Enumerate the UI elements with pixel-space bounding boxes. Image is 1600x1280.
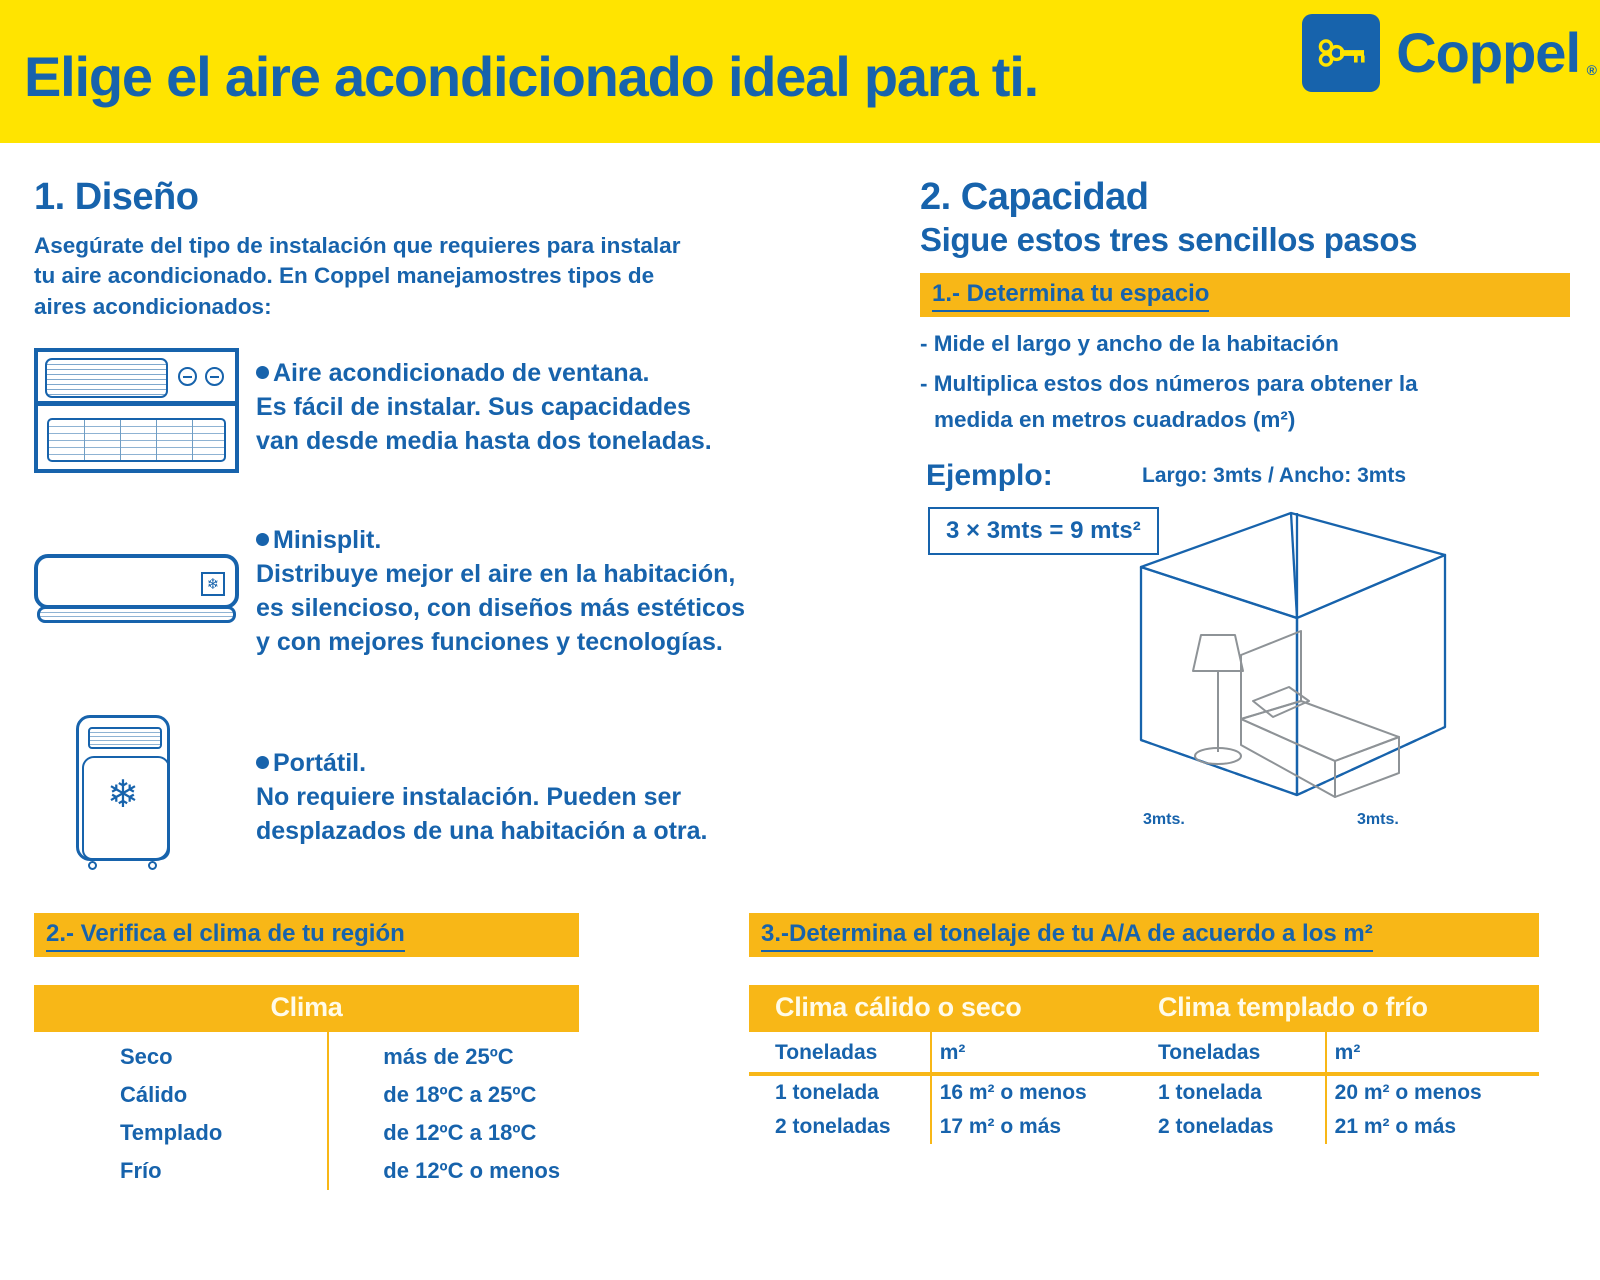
col-header-toneladas: Toneladas xyxy=(1144,1032,1326,1074)
clima-range: de 12ºC a 18ºC xyxy=(328,1114,579,1152)
portable-cabinet: ❄ xyxy=(76,715,170,861)
section1-lead: Asegúrate del tipo de instalación que re… xyxy=(34,231,794,322)
brand-text: Coppel xyxy=(1396,21,1580,84)
table-row: Templado de 12ºC a 18ºC xyxy=(34,1114,579,1152)
section1-title: 1. Diseño xyxy=(34,176,794,219)
section-clima: 2.- Verifica el clima de tu región Clima… xyxy=(34,913,579,1190)
step1-rule: - Multiplica estos dos números para obte… xyxy=(920,371,1570,397)
clima-range: más de 25ºC xyxy=(328,1032,579,1076)
item-line: y con mejores funciones y tecnologías. xyxy=(256,625,816,659)
clima-type: Frío xyxy=(34,1152,328,1190)
cell-m2: 21 m² o más xyxy=(1326,1110,1539,1144)
item-line: Es fácil de instalar. Sus capacidades xyxy=(256,390,796,424)
item-heading: Minisplit. xyxy=(273,526,381,554)
coppel-logo: Coppel ® xyxy=(1302,14,1580,92)
group-header-templado: Clima templado o frío xyxy=(1144,985,1539,1032)
clima-header: Clima xyxy=(34,985,579,1032)
lead-line: tu aire acondicionado. En Coppel manejam… xyxy=(34,261,794,291)
cell-toneladas: 1 tonelada xyxy=(1144,1074,1326,1110)
col-header-m2: m² xyxy=(1326,1032,1539,1074)
minisplit-body: ❄ xyxy=(34,554,239,609)
example-row: Ejemplo: Largo: 3mts / Ancho: 3mts 3 × 3… xyxy=(920,459,1570,511)
section2-title: 2. Capacidad xyxy=(920,176,1570,219)
section-diseno: 1. Diseño Asegúrate del tipo de instalac… xyxy=(34,176,794,885)
step1-band-label: 1.- Determina tu espacio xyxy=(932,280,1209,312)
cell-m2: 17 m² o más xyxy=(931,1110,1144,1144)
table-header-row: Clima xyxy=(34,985,579,1032)
table-row: Cálido de 18ºC a 25ºC xyxy=(34,1076,579,1114)
table-row: Seco más de 25ºC xyxy=(34,1032,579,1076)
table-row: 2 toneladas 17 m² o más 2 toneladas 21 m… xyxy=(749,1110,1539,1144)
cell-m2: 16 m² o menos xyxy=(931,1074,1144,1110)
bullet-icon xyxy=(256,366,269,379)
col-header-m2: m² xyxy=(931,1032,1144,1074)
item-line: Distribuye mejor el aire en la habitació… xyxy=(256,557,816,591)
ac-type-minisplit: ❄ Minisplit. Distribuye mejor el aire en… xyxy=(34,523,794,693)
lead-line: Asegúrate del tipo de instalación que re… xyxy=(34,231,794,261)
step1-rule: medida en metros cuadrados (m²) xyxy=(920,407,1570,433)
window-ac-knob xyxy=(205,367,224,386)
bullet-icon xyxy=(256,533,269,546)
example-label: Ejemplo: xyxy=(926,459,1053,493)
item-line: es silencioso, con diseños más estéticos xyxy=(256,591,816,625)
table-row: 1 tonelada 16 m² o menos 1 tonelada 20 m… xyxy=(749,1074,1539,1110)
table-row: Frío de 12ºC o menos xyxy=(34,1152,579,1190)
step3-band-label: 3.-Determina el tonelaje de tu A/A de ac… xyxy=(761,920,1373,952)
clima-table: Clima Seco más de 25ºC Cálido de 18ºC a … xyxy=(34,985,579,1190)
minisplit-ac-text: Minisplit. Distribuye mejor el aire en l… xyxy=(256,523,816,659)
item-line: van desde media hasta dos toneladas. xyxy=(256,424,796,458)
isometric-room-icon xyxy=(1113,505,1473,840)
snowflake-icon: ❄ xyxy=(201,572,225,596)
snowflake-icon: ❄ xyxy=(79,776,167,814)
page-header: Elige el aire acondicionado ideal para t… xyxy=(0,0,1600,143)
portable-ac-icon: ❄ xyxy=(76,715,170,867)
tonelaje-table: Clima cálido o seco Clima templado o frí… xyxy=(749,985,1539,1144)
section2-subtitle: Sigue estos tres sencillos pasos xyxy=(920,221,1570,259)
window-ac-text: Aire acondicionado de ventana. Es fácil … xyxy=(256,356,796,458)
step1-band: 1.- Determina tu espacio xyxy=(920,273,1570,317)
cell-toneladas: 2 toneladas xyxy=(749,1110,931,1144)
item-heading-row: Minisplit. xyxy=(256,523,816,557)
bullet-icon xyxy=(256,756,269,769)
minisplit-ac-icon: ❄ xyxy=(34,554,239,629)
group-header-calido: Clima cálido o seco xyxy=(749,985,1144,1032)
portable-ac-text: Portátil. No requiere instalación. Puede… xyxy=(256,746,796,848)
window-ac-knob xyxy=(178,367,197,386)
portable-wheel xyxy=(148,861,157,870)
col-header-toneladas: Toneladas xyxy=(749,1032,931,1074)
step2-band-label: 2.- Verifica el clima de tu región xyxy=(46,920,405,952)
step2-band: 2.- Verifica el clima de tu región xyxy=(34,913,579,957)
table-header-row: Toneladas m² Toneladas m² xyxy=(749,1032,1539,1074)
example-dimensions: Largo: 3mts / Ancho: 3mts xyxy=(1142,464,1406,488)
clima-type: Seco xyxy=(34,1032,328,1076)
window-ac-top xyxy=(38,352,235,406)
clima-type: Templado xyxy=(34,1114,328,1152)
brand-name: Coppel ® xyxy=(1396,25,1580,81)
portable-vents xyxy=(88,727,162,749)
cell-toneladas: 2 toneladas xyxy=(1144,1110,1326,1144)
item-line: desplazados de una habitación a otra. xyxy=(256,814,796,848)
item-heading-row: Portátil. xyxy=(256,746,796,780)
ac-type-window: Aire acondicionado de ventana. Es fácil … xyxy=(34,348,794,493)
clima-range: de 18ºC a 25ºC xyxy=(328,1076,579,1114)
window-ac-grille xyxy=(47,418,226,462)
key-icon xyxy=(1302,14,1380,92)
room-right-dimension: 3mts. xyxy=(1357,811,1399,829)
item-heading: Portátil. xyxy=(273,749,366,777)
window-ac-icon xyxy=(34,348,239,473)
lead-line: aires acondicionados: xyxy=(34,292,794,322)
clima-range: de 12ºC o menos xyxy=(328,1152,579,1190)
section-capacidad: 2. Capacidad Sigue estos tres sencillos … xyxy=(920,176,1570,511)
step3-band: 3.-Determina el tonelaje de tu A/A de ac… xyxy=(749,913,1539,957)
window-ac-vent xyxy=(45,358,168,398)
ac-type-portable: ❄ Portátil. No requiere instalación. Pue… xyxy=(34,715,794,885)
minisplit-louver xyxy=(37,606,236,623)
clima-type: Cálido xyxy=(34,1076,328,1114)
cell-m2: 20 m² o menos xyxy=(1326,1074,1539,1110)
item-heading-row: Aire acondicionado de ventana. xyxy=(256,356,796,390)
cell-toneladas: 1 tonelada xyxy=(749,1074,931,1110)
table-group-header-row: Clima cálido o seco Clima templado o frí… xyxy=(749,985,1539,1032)
step1-rule: - Mide el largo y ancho de la habitación xyxy=(920,331,1570,357)
section-tonelaje: 3.-Determina el tonelaje de tu A/A de ac… xyxy=(749,913,1539,1144)
room-left-dimension: 3mts. xyxy=(1143,811,1185,829)
registered-mark: ® xyxy=(1587,63,1596,77)
page-title: Elige el aire acondicionado ideal para t… xyxy=(24,44,1038,109)
item-heading: Aire acondicionado de ventana. xyxy=(273,359,649,387)
item-line: No requiere instalación. Pueden ser xyxy=(256,780,796,814)
portable-wheel xyxy=(88,861,97,870)
